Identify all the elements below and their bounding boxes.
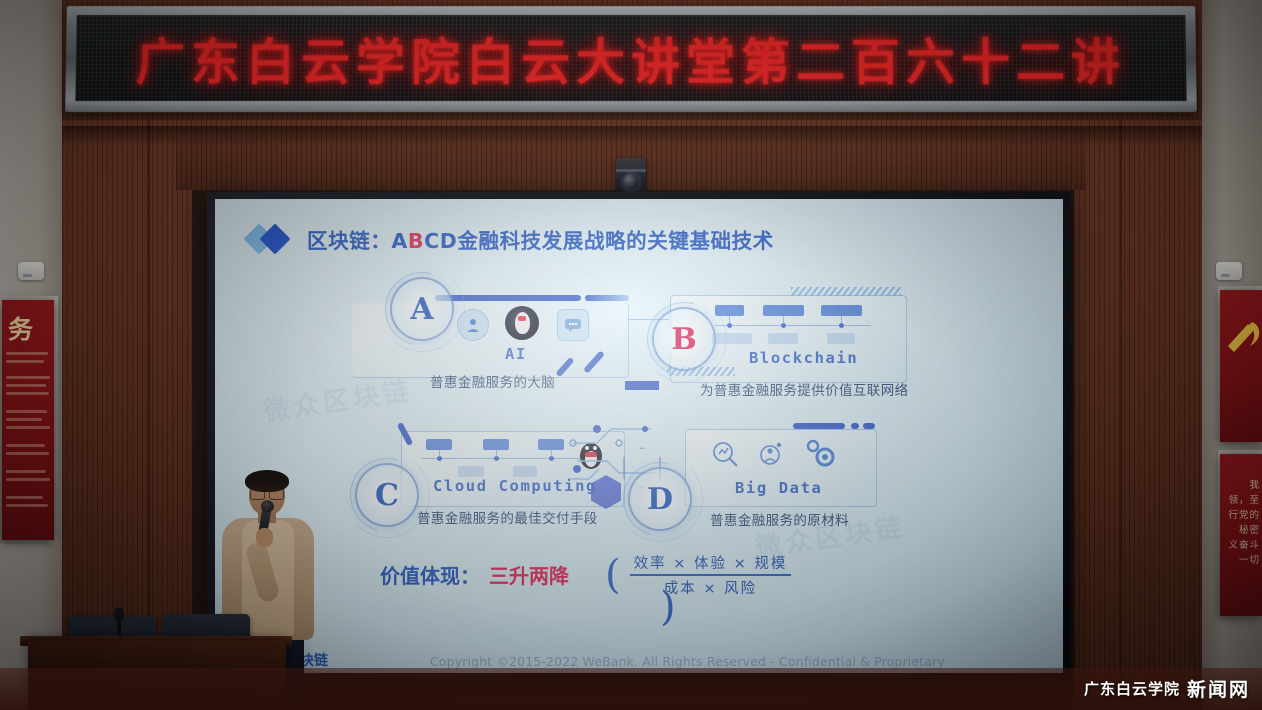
formula-close-paren: ) bbox=[660, 591, 676, 623]
formula-open-paren: ( bbox=[605, 559, 621, 591]
led-banner-text: 广东白云学院白云大讲堂第二百六十二讲 bbox=[136, 23, 1127, 94]
hammer-sickle-icon bbox=[1222, 316, 1262, 356]
quadrant-a-caption: 普惠金融服务的大脑 bbox=[430, 371, 555, 391]
ai-qq-penguin-icon bbox=[505, 306, 539, 340]
left-poster: 务 bbox=[2, 300, 54, 540]
quadrant-c-letter: C bbox=[375, 478, 399, 513]
wood-column-right bbox=[1074, 120, 1202, 710]
formula-key: 三升两降 bbox=[489, 560, 569, 589]
quadrant-a-name: AI bbox=[505, 345, 527, 363]
bottom-vignette bbox=[0, 668, 1262, 710]
quadrant-d-ring: D bbox=[628, 467, 692, 531]
camera-lens bbox=[623, 174, 639, 190]
quadrant-d-caption: 普惠金融服务的原材料 bbox=[710, 509, 849, 529]
slide-watermark-left: 微众区块链 bbox=[261, 371, 415, 429]
wall-sensor-left bbox=[18, 262, 44, 280]
quadrant-a-ring: A bbox=[390, 277, 454, 341]
ai-chat-icon bbox=[557, 309, 589, 341]
b-node-3 bbox=[821, 305, 862, 316]
quadrant-c-ring: C bbox=[355, 463, 419, 527]
speaker-hand bbox=[256, 528, 273, 547]
right-poster-oath: 我 领，至 行党的 秘密 义奋斗 一切 bbox=[1220, 454, 1262, 616]
led-banner-face: 广东白云学院白云大讲堂第二百六十二讲 bbox=[75, 15, 1186, 101]
cornice-shadow bbox=[62, 126, 1202, 146]
quadrant-d-letter: D bbox=[647, 482, 673, 517]
news-watermark: 广东白云学院 新闻网 bbox=[1084, 675, 1250, 702]
b-node-1 bbox=[715, 305, 744, 316]
diamond-bullet-icon bbox=[248, 226, 294, 252]
right-poster-emblem bbox=[1220, 290, 1262, 442]
projection-screen: 微众区块链 微众区块链 区块链：ABCD金融科技发展战略的关键基础技术 A bbox=[215, 199, 1063, 673]
gears-icon bbox=[801, 435, 839, 473]
wall-sensor-right bbox=[1216, 262, 1242, 280]
quadrant-a-letter: A bbox=[410, 292, 433, 327]
quadrant-b-name: Blockchain bbox=[749, 349, 858, 367]
led-banner: 广东白云学院白云大讲堂第二百六十二讲 bbox=[65, 6, 1197, 112]
b-node-2 bbox=[763, 305, 804, 316]
right-poster-text: 我 领，至 行党的 秘密 义奋斗 一切 bbox=[1222, 478, 1260, 568]
news-site-label: 新闻网 bbox=[1187, 675, 1250, 702]
slide-title-text: 区块链：ABCD金融科技发展战略的关键基础技术 bbox=[307, 224, 774, 254]
quadrant-b-letter: B bbox=[671, 322, 696, 357]
left-poster-heading: 务 bbox=[8, 310, 33, 346]
formula-label: 价值体现： bbox=[380, 560, 480, 589]
photo-scene: 广东白云学院白云大讲堂第二百六十二讲 务 bbox=[0, 0, 1262, 710]
formula-fraction: 效率 × 体验 × 规模 成本 × 风险 bbox=[630, 551, 792, 599]
column-seam-right bbox=[1120, 120, 1122, 710]
quadrant-b-caption: 为普惠金融服务提供价值互联网络 bbox=[700, 379, 909, 399]
network-person-icon bbox=[755, 439, 785, 469]
value-formula: 价值体现： 三升两降 ( 效率 × 体验 × 规模 成本 × 风险 bbox=[380, 551, 791, 599]
formula-numerator: 效率 × 体验 × 规模 bbox=[630, 551, 792, 574]
news-org-label: 广东白云学院 bbox=[1084, 678, 1180, 699]
quadrant-d-name: Big Data bbox=[735, 479, 822, 497]
magnifier-chart-icon bbox=[710, 439, 740, 469]
slide-title: 区块链：ABCD金融科技发展战略的关键基础技术 bbox=[248, 224, 774, 254]
camera-band bbox=[616, 169, 646, 172]
speaker-glasses bbox=[250, 489, 284, 499]
quadrant-b-ring: B bbox=[652, 307, 716, 371]
ai-person-icon bbox=[457, 309, 489, 341]
slide-copyright: Copyright ©2015-2022 WeBank. All Rights … bbox=[430, 654, 945, 669]
